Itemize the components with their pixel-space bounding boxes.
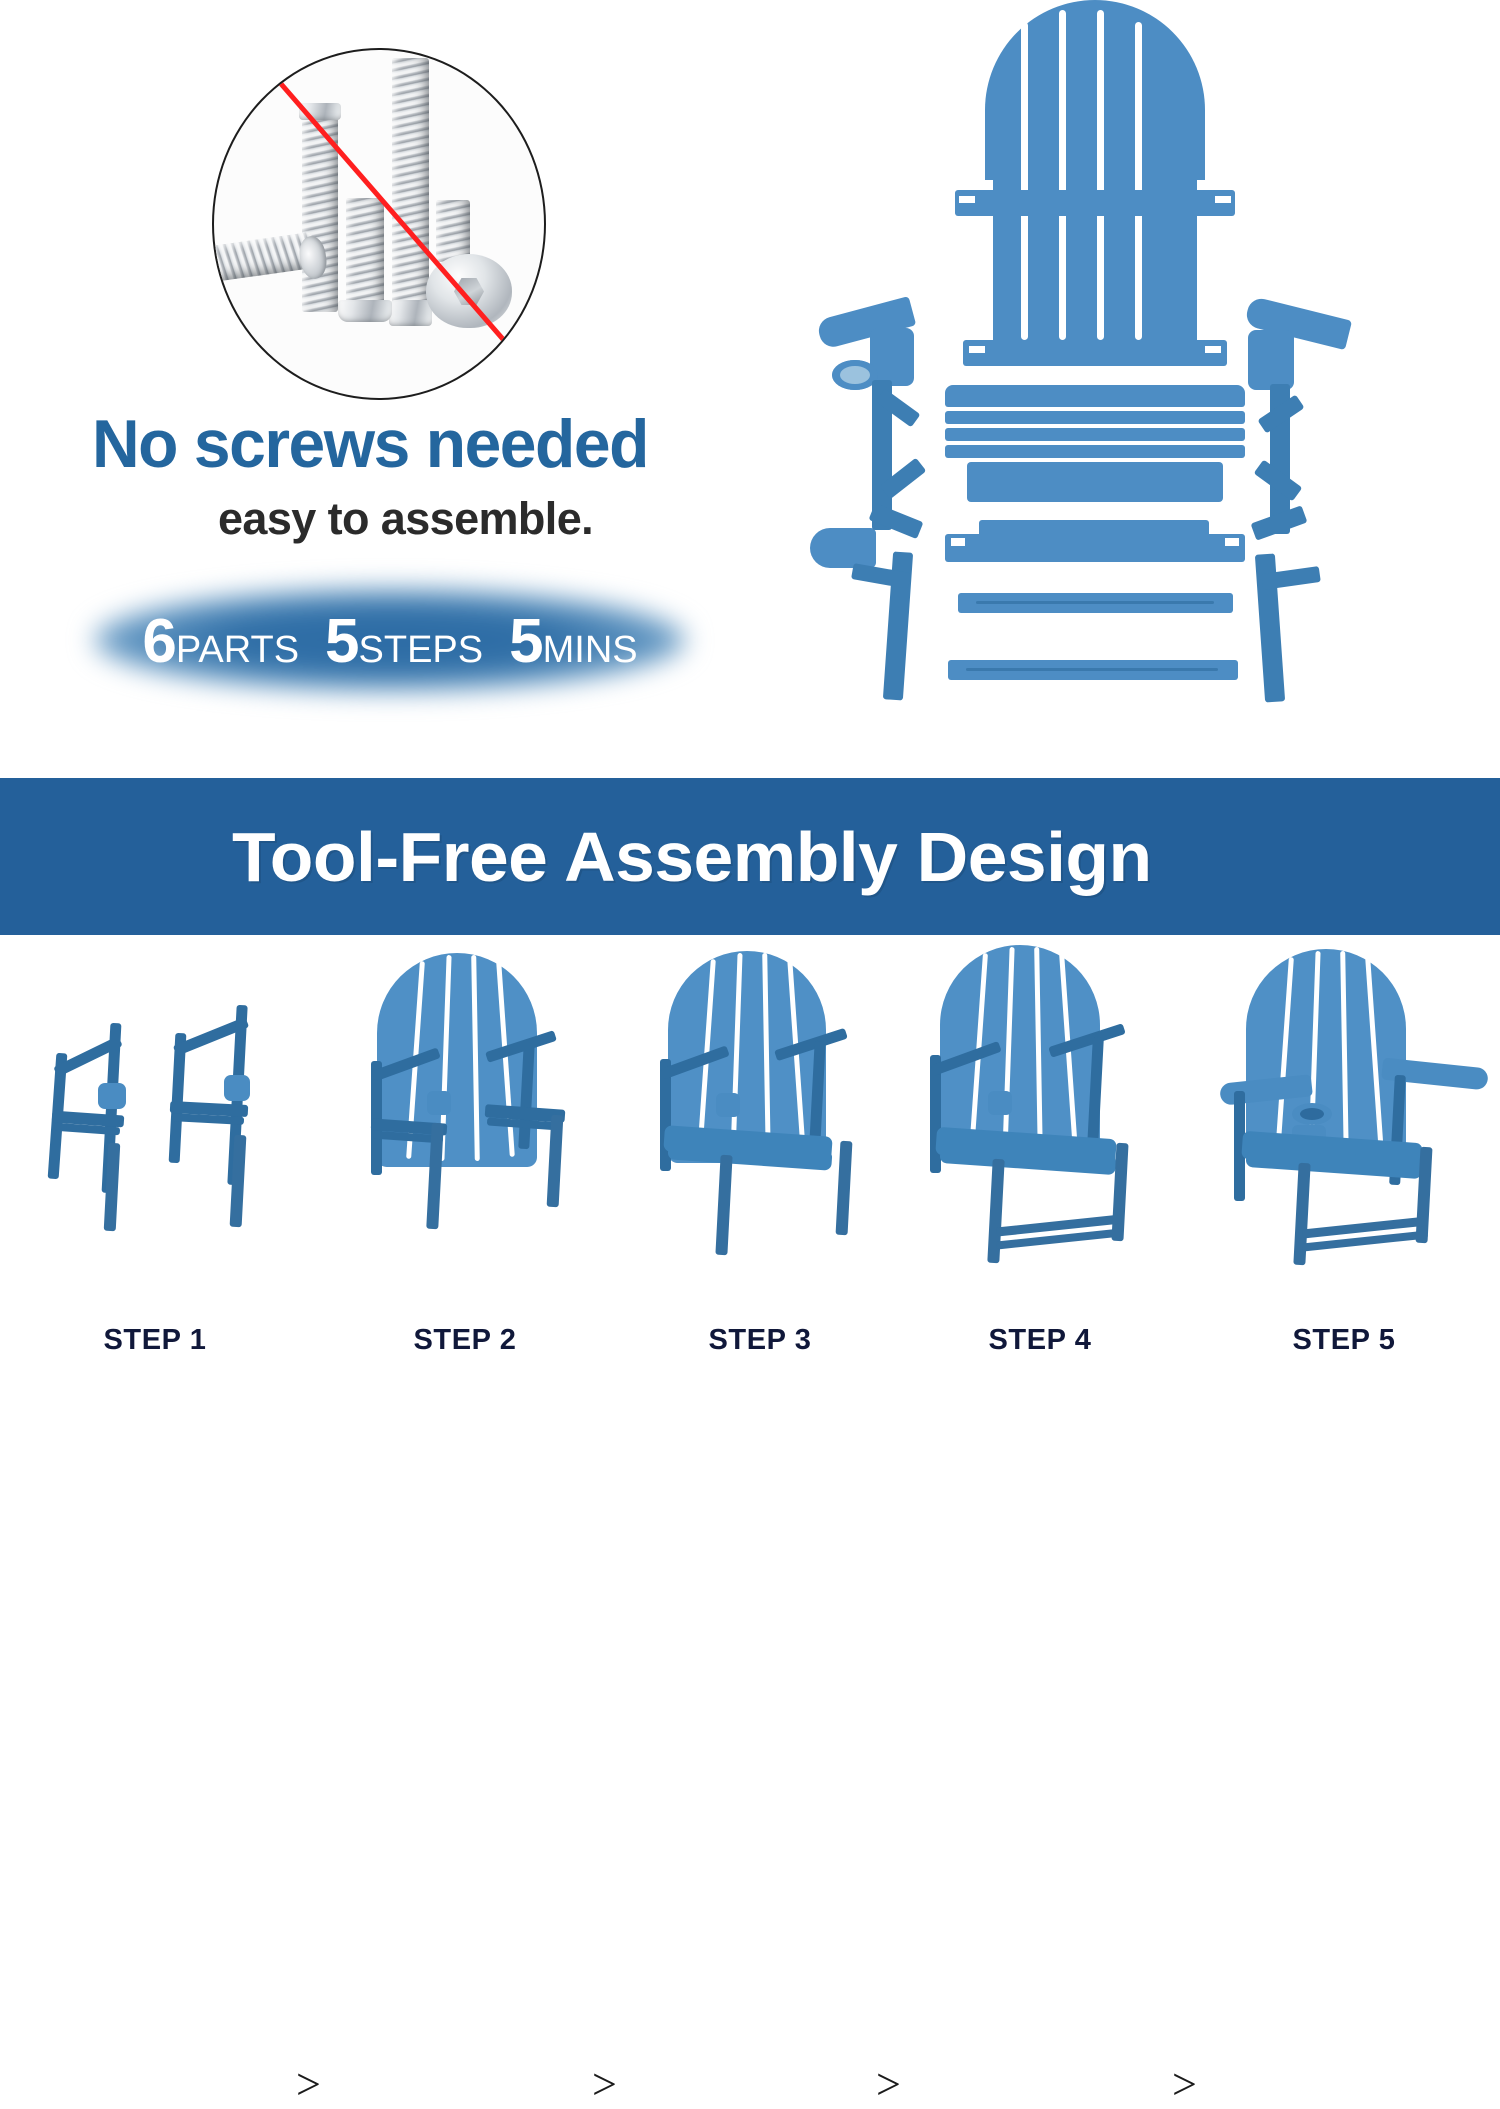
step-4-figure bbox=[900, 935, 1180, 1295]
step-item-2: STEP 2 bbox=[325, 935, 605, 1379]
stat-steps: 5 STEPS bbox=[325, 611, 483, 673]
backrest-slot bbox=[1021, 22, 1028, 340]
stat-mins: 5 MINS bbox=[509, 611, 637, 673]
seat-slat bbox=[945, 428, 1245, 441]
bolt-head-icon bbox=[338, 300, 392, 322]
stats-badge: 6 PARTS 5 STEPS 5 MINS bbox=[80, 575, 700, 705]
stats-list: 6 PARTS 5 STEPS 5 MINS bbox=[80, 599, 700, 685]
stat-parts-label: PARTS bbox=[176, 631, 299, 669]
step-1-figure bbox=[10, 935, 300, 1295]
step-2-label: STEP 2 bbox=[325, 1324, 605, 1357]
step-item-4: STEP 4 bbox=[900, 935, 1180, 1379]
step-arrow-3: > bbox=[876, 2063, 901, 2107]
crossbar-lip bbox=[979, 520, 1209, 540]
exploded-chair-parts-diagram bbox=[800, 0, 1500, 760]
banner-title: Tool-Free Assembly Design bbox=[232, 822, 1152, 892]
seat-slat bbox=[945, 411, 1245, 424]
stat-steps-number: 5 bbox=[325, 611, 358, 673]
seat-slat bbox=[945, 385, 1245, 407]
step-3-label: STEP 3 bbox=[620, 1324, 900, 1357]
joint-notch bbox=[969, 346, 985, 353]
stat-steps-label: STEPS bbox=[359, 631, 484, 669]
joint-notch bbox=[1205, 346, 1221, 353]
step-arrow-4: > bbox=[1172, 2063, 1197, 2107]
joint-notch bbox=[1215, 196, 1231, 203]
part-support-rail bbox=[958, 593, 1233, 613]
stat-parts-number: 6 bbox=[142, 611, 175, 673]
bolt-shaft-icon bbox=[392, 58, 429, 320]
brace bbox=[869, 503, 924, 539]
stat-mins-label: MINS bbox=[543, 631, 638, 669]
cup-holder-opening bbox=[840, 366, 870, 384]
step-item-5: STEP 5 bbox=[1196, 935, 1492, 1379]
backrest-lower-rail bbox=[963, 340, 1227, 366]
step-5-label: STEP 5 bbox=[1196, 1324, 1492, 1357]
part-seat-slat-assembly bbox=[945, 385, 1245, 505]
part-support-rail bbox=[948, 660, 1238, 680]
rail-groove bbox=[976, 601, 1214, 604]
seat-slat bbox=[945, 445, 1245, 458]
joint-notch bbox=[1225, 538, 1239, 546]
backrest-slot bbox=[1059, 10, 1066, 340]
headline: No screws needed bbox=[92, 410, 732, 478]
backrest-upper-rail bbox=[955, 190, 1235, 216]
stat-parts: 6 PARTS bbox=[142, 611, 299, 673]
part-backrest-panel bbox=[955, 0, 1235, 370]
joint-notch bbox=[951, 538, 965, 546]
cup-holder-shelf bbox=[810, 528, 876, 568]
step-arrow-2: > bbox=[592, 2063, 617, 2107]
bolt-shaft-icon bbox=[436, 200, 470, 262]
backrest-slot bbox=[1135, 22, 1142, 340]
stainless-steel-bolts-photo bbox=[212, 48, 546, 400]
bolt-shaft-icon bbox=[346, 198, 384, 310]
bolt-head-icon bbox=[389, 300, 432, 326]
part-left-side-frame-with-cup-holder bbox=[810, 300, 925, 720]
seat-front-edge bbox=[967, 462, 1223, 502]
step-5-figure bbox=[1196, 935, 1492, 1295]
step-arrow-1: > bbox=[296, 2063, 321, 2107]
part-front-crossbar bbox=[945, 520, 1245, 566]
rail-groove bbox=[966, 668, 1218, 671]
step-item-3: STEP 3 bbox=[620, 935, 900, 1379]
step-3-figure bbox=[620, 935, 900, 1295]
part-right-side-frame bbox=[1240, 300, 1362, 720]
assembly-steps-section: STEP 1 > bbox=[0, 935, 1500, 1379]
section-banner: Tool-Free Assembly Design bbox=[0, 778, 1500, 935]
backrest-slot bbox=[1097, 10, 1104, 340]
step-2-figure bbox=[325, 935, 605, 1295]
joint-notch bbox=[959, 196, 975, 203]
step-1-label: STEP 1 bbox=[10, 1324, 300, 1357]
step-item-1: STEP 1 bbox=[10, 935, 300, 1379]
top-section: No screws needed easy to assemble. 6 PAR… bbox=[0, 0, 1500, 778]
armrest-profile bbox=[1248, 330, 1294, 390]
stat-mins-number: 5 bbox=[509, 611, 542, 673]
step-4-label: STEP 4 bbox=[900, 1324, 1180, 1357]
